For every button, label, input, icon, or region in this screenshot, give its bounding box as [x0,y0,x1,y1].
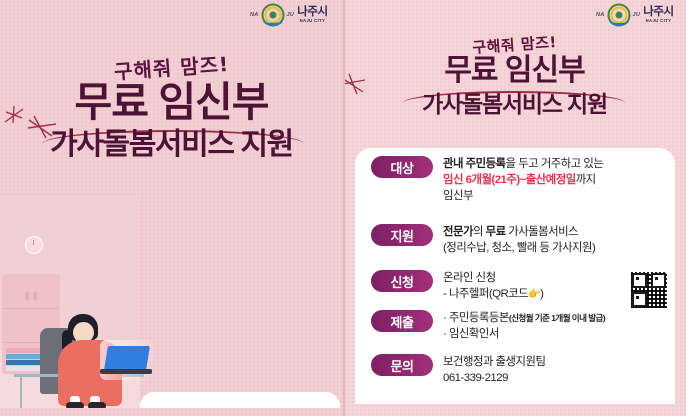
row-text-line: 보건행정과 출생지원팀 [443,354,545,370]
naju-city-logo-right: NA JU 나주시 NAJU CITY [596,5,674,25]
info-row-4: 문의보건행정과 출생지원팀061-339-2129 [371,354,545,386]
text-segment: 임신부 [443,190,473,202]
row-text-line: - 나주헬퍼(QR코드👉) [443,286,543,302]
naju-city-logo-left: NA JU 나주시 NAJU CITY [250,5,328,25]
row-text-line: 관내 주민등록을 두고 거주하고 있는 [443,156,603,172]
info-card: 대상관내 주민등록을 두고 거주하고 있는임신 6개월(21주)~출산예정일까지… [355,148,675,404]
text-segment: - 나주헬퍼(QR코드 [443,288,528,300]
qr-finder-pattern [632,292,647,307]
row-text-line: · 주민등록등본(신청월 기준 1개월 이내 발급) [443,310,605,326]
qr-code-naju-helper[interactable] [631,272,667,308]
row-text-line: 061-339-2129 [443,370,545,386]
logo-korean-text: 나주시 [297,7,328,19]
left-title-line2: 가사돌봄서비스 지원 [0,128,343,161]
logo-ju-text: JU [287,12,295,18]
helpers-illustration-card [140,392,340,408]
panel-divider [343,0,345,416]
right-panel: NA JU 나주시 NAJU CITY 구해줘 맘즈! 무료 임신부 가사돌봄서… [343,0,686,416]
row-label-badge: 제출 [371,310,433,332]
info-row-2: 신청온라인 신청- 나주헬퍼(QR코드👉) [371,270,543,302]
row-text: 보건행정과 출생지원팀061-339-2129 [443,354,545,386]
logo-english-text: NAJU CITY [646,18,672,23]
qr-finder-pattern [651,273,666,288]
row-text: 온라인 신청- 나주헬퍼(QR코드👉) [443,270,543,302]
text-segment: 전문가 [443,226,473,238]
text-segment: 보건행정과 출생지원팀 [443,356,545,368]
info-row-0: 대상관내 주민등록을 두고 거주하고 있는임신 6개월(21주)~출산예정일까지… [371,156,603,205]
text-segment: 임신 6개월(21주)~출산예정일 [443,174,576,186]
row-text-line: 전문가의 무료 가사돌봄서비스 [443,224,595,240]
row-label-badge: 신청 [371,270,433,292]
logo-korean-text: 나주시 [643,7,674,19]
laptop-icon [100,346,148,376]
row-label-badge: 문의 [371,354,433,376]
row-text-line: · 임신확인서 [443,326,605,342]
text-segment: 까지 [576,174,596,186]
text-segment: 관내 주민등록 [443,158,506,170]
wall-clock-icon [25,236,43,254]
text-segment: 무료 [486,226,506,238]
text-segment: 가사돌봄서비스 [506,226,579,238]
logo-na-text: NA [596,12,605,18]
desk-leg [20,376,22,408]
row-text-line: 임신 6개월(21주)~출산예정일까지 [443,172,603,188]
right-title-line2: 가사돌봄서비스 지원 [343,92,686,117]
row-text-line: 온라인 신청 [443,270,543,286]
row-text: 관내 주민등록을 두고 거주하고 있는임신 6개월(21주)~출산예정일까지임신… [443,156,603,205]
text-segment: 을 두고 거주하고 있는 [506,158,604,170]
row-text-line: 임신부 [443,188,603,204]
row-label-badge: 지원 [371,224,433,246]
text-segment: (신청월 기준 1개월 이내 발급) [509,313,605,323]
illustration-scene [0,196,340,408]
row-text: 전문가의 무료 가사돌봄서비스(정리수납, 청소, 빨래 등 가사지원) [443,224,595,256]
logo-na-text: NA [250,12,259,18]
text-segment: 061-339-2129 [443,372,508,384]
logo-ju-text: JU [633,12,641,18]
poster-root: NA JU 나주시 NAJU CITY 구해줘 맘즈! 무료 임신부 가사돌봄서… [0,0,686,416]
info-row-1: 지원전문가의 무료 가사돌봄서비스(정리수납, 청소, 빨래 등 가사지원) [371,224,595,256]
text-segment: 의 [473,226,486,238]
naju-logo-mark-icon [608,5,630,25]
row-text-line: (정리수납, 청소, 빨래 등 가사지원) [443,240,595,256]
row-text: · 주민등록등본(신청월 기준 1개월 이내 발급)· 임신확인서 [443,310,605,342]
logo-english-text: NAJU CITY [300,18,326,23]
text-segment: 👉 [528,289,540,300]
text-segment: (정리수납, 청소, 빨래 등 가사지원) [443,242,595,254]
qr-finder-pattern [632,273,647,288]
text-segment: 온라인 신청 [443,272,496,284]
row-label-badge: 대상 [371,156,433,178]
text-segment: · 주민등록등본 [443,312,509,324]
info-row-3: 제출· 주민등록등본(신청월 기준 1개월 이내 발급)· 임신확인서 [371,310,605,342]
left-title-line1: 무료 임신부 [0,82,343,123]
naju-logo-mark-icon [262,5,284,25]
left-panel: NA JU 나주시 NAJU CITY 구해줘 맘즈! 무료 임신부 가사돌봄서… [0,0,343,416]
text-segment: ) [540,288,543,300]
right-title-line1: 무료 임신부 [343,56,686,86]
text-segment: · 임신확인서 [443,328,499,340]
